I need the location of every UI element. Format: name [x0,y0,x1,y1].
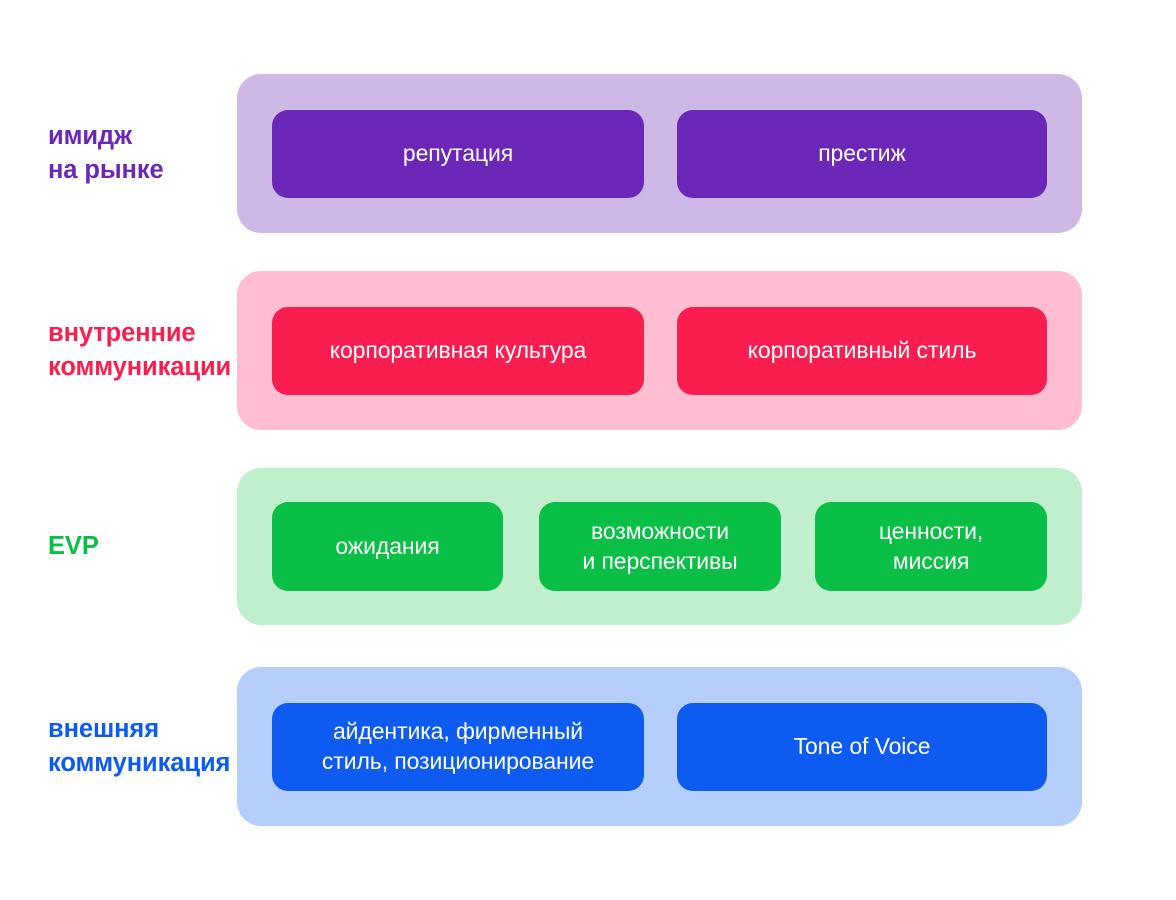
row-band-image: репутация престиж [237,74,1082,233]
cell-tone-of-voice[interactable]: Tone of Voice [677,703,1047,791]
row-label-image: имидж на рынке [0,120,237,186]
row-band-evp: ожидания возможности и перспективы ценно… [237,468,1082,625]
diagram-row-evp: EVP ожидания возможности и перспективы ц… [0,468,1176,625]
employer-brand-diagram: имидж на рынке репутация престиж внутрен… [0,0,1176,900]
row-label-internal-communications: внутренние коммуникации [0,317,237,383]
row-band-internal-communications: корпоративная культура корпоративный сти… [237,271,1082,430]
diagram-row-internal-communications: внутренние коммуникации корпоративная ку… [0,271,1176,430]
row-label-evp: EVP [0,530,237,563]
row-band-external-communication: айдентика, фирменный стиль, позициониров… [237,667,1082,826]
cell-values-mission[interactable]: ценности, миссия [815,502,1047,591]
cell-identity-style-positioning[interactable]: айдентика, фирменный стиль, позициониров… [272,703,644,791]
diagram-row-external-communication: внешняя коммуникация айдентика, фирменны… [0,667,1176,826]
cell-reputation[interactable]: репутация [272,110,644,198]
cell-prestige[interactable]: престиж [677,110,1047,198]
cell-corporate-style[interactable]: корпоративный стиль [677,307,1047,395]
diagram-row-image: имидж на рынке репутация престиж [0,74,1176,233]
cell-expectations[interactable]: ожидания [272,502,503,591]
cell-opportunities-and-prospects[interactable]: возможности и перспективы [539,502,781,591]
row-label-external-communication: внешняя коммуникация [0,713,237,779]
cell-corporate-culture[interactable]: корпоративная культура [272,307,644,395]
